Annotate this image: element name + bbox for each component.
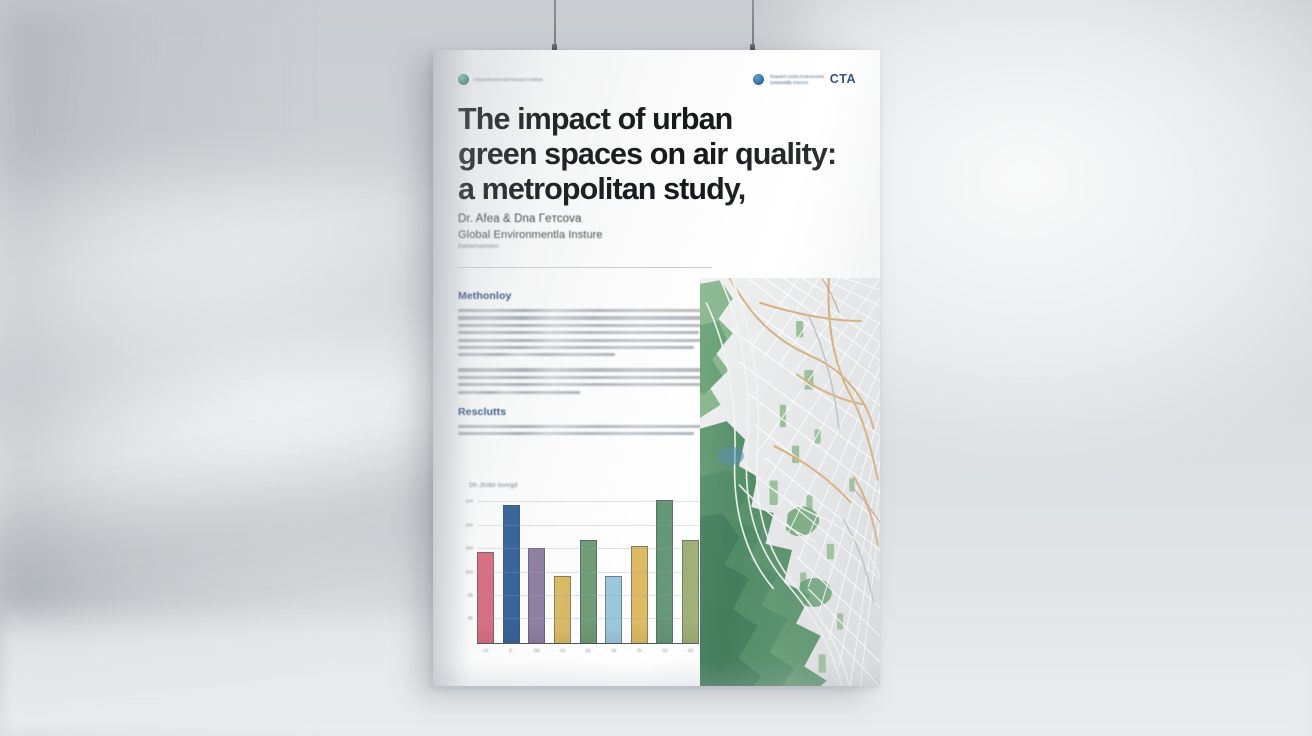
paragraph-results-1 — [458, 425, 712, 436]
cta-abbrev: CTA — [830, 72, 856, 86]
chart-y-tick-label: 100 — [465, 499, 473, 504]
chart-y-tick-label: 200 — [465, 522, 473, 527]
poster-title: The impact of urban green spaces on air … — [458, 102, 858, 207]
author-affiliation-sub: Inetarrounveo — [458, 243, 788, 250]
chart-gridline: 300 — [477, 548, 699, 549]
text-line — [458, 324, 712, 327]
right-logo: Research Centre Environmental Sustainabi… — [753, 72, 856, 86]
left-logo: Urbanetrionimental Research Institute — [458, 74, 543, 85]
right-logo-text-block: Research Centre Environmental Sustainabi… — [770, 74, 824, 85]
chart-x-tick-label: 0ő — [682, 648, 699, 653]
content-column-left: Methonloy Resclutts — [458, 290, 712, 447]
chart-x-tick-label: (ò) — [580, 648, 597, 653]
city-map-panel[interactable] — [700, 278, 880, 686]
chart-bar[interactable] — [477, 552, 494, 643]
text-line — [458, 331, 699, 334]
text-line — [458, 339, 709, 342]
author-names: Dr. Afea & Dna Гeтсova — [458, 213, 788, 225]
hanging-wire-left — [554, 0, 556, 50]
chart-x-tick-label: D6 — [528, 648, 545, 653]
author-affiliation: Global Environmentla Insture — [458, 229, 788, 241]
text-line — [458, 346, 694, 349]
title-line-1: The impact of urban — [458, 102, 858, 137]
text-line — [458, 316, 704, 319]
poster-header: Urbanetrionimental Research Institute Re… — [458, 71, 856, 87]
paragraph-methodology-2 — [458, 368, 712, 393]
text-line — [458, 368, 709, 371]
chart-bar[interactable] — [682, 540, 699, 643]
chart-x-tick-label: 5´ — [503, 648, 520, 653]
chart-y-tick-label: 5b — [468, 592, 473, 597]
globe-logo-icon — [458, 74, 469, 85]
text-line — [458, 432, 694, 435]
section-heading-methodology: Methonloy — [458, 290, 712, 302]
text-line — [458, 425, 712, 428]
right-logo-line2: Sustainability Sciences — [770, 80, 824, 85]
hanging-wire-right — [752, 0, 754, 50]
results-bar-chart[interactable]: Dh Jtntbt òsnrgd 1002003002b45b0h A05´D6… — [455, 482, 705, 664]
section-heading-results: Resclutts — [458, 406, 712, 418]
chart-bar[interactable] — [580, 540, 597, 643]
author-block: Dr. Afea & Dna Гeтсova Global Environmen… — [458, 213, 788, 250]
chart-bar[interactable] — [554, 576, 571, 643]
chart-gridline: 0h — [477, 618, 699, 619]
chart-x-tick-labels: A05´D6A0(ò)A92h5ò0ő — [477, 648, 699, 653]
chart-x-axis — [477, 643, 699, 644]
chart-bars — [477, 497, 699, 643]
chart-gridline: 2b4 — [477, 572, 699, 573]
research-poster[interactable]: Urbanetrionimental Research Institute Re… — [433, 50, 880, 686]
chart-x-tick-label: A0 — [477, 648, 494, 653]
text-line — [458, 376, 702, 379]
chart-y-tick-label: 0h — [468, 616, 473, 621]
institution-logo-icon — [753, 74, 764, 85]
chart-x-tick-label: A9 — [605, 648, 622, 653]
chart-y-tick-label: 300 — [465, 546, 473, 551]
chart-bar[interactable] — [605, 576, 622, 643]
text-line — [458, 353, 615, 356]
chart-x-tick-label: A0 — [554, 648, 571, 653]
chart-plot-area: 1002003002b45b0h — [477, 496, 699, 644]
chart-gridline: 200 — [477, 525, 699, 526]
left-logo-text: Urbanetrionimental Research Institute — [473, 77, 543, 82]
paragraph-methodology-1 — [458, 309, 712, 356]
header-divider — [458, 267, 712, 268]
title-line-2: green spaces on air quality: — [458, 137, 858, 172]
poster-mockup-scene: Urbanetrionimental Research Institute Re… — [0, 0, 1312, 736]
chart-x-tick-label: 5ò — [656, 648, 673, 653]
chart-title: Dh Jtntbt òsnrgd — [469, 482, 518, 489]
text-line — [458, 383, 712, 386]
chart-gridline: 100 — [477, 501, 699, 502]
text-line — [458, 391, 580, 394]
chart-gridline: 5b — [477, 595, 699, 596]
text-line — [458, 309, 712, 312]
right-logo-line1: Research Centre Environmental — [770, 74, 824, 79]
title-line-3: a metropolitan study, — [458, 172, 858, 207]
city-map-image — [700, 278, 880, 686]
chart-y-tick-label: 2b4 — [465, 569, 473, 574]
chart-x-tick-label: 2h — [631, 648, 648, 653]
